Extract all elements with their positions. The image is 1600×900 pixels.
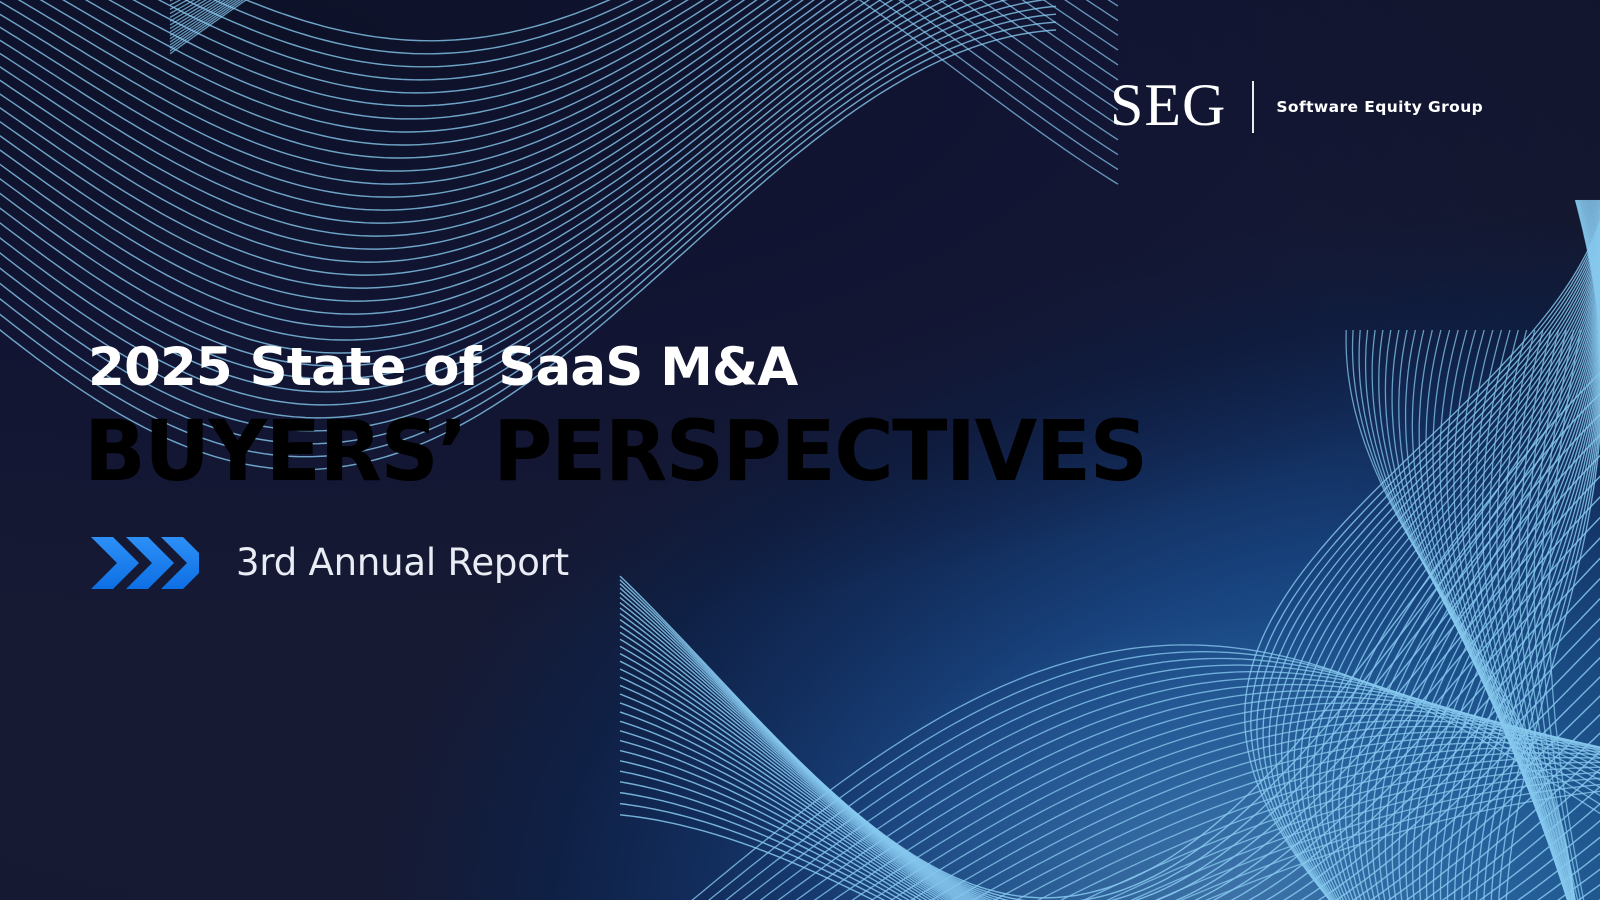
seg-logo-mark: SEG	[1110, 75, 1226, 135]
title-block: 2025 State of SaaS M&A BUYERS’ PERSPECTI…	[88, 340, 1185, 589]
seg-logo: SEG Software Equity Group	[1110, 76, 1483, 138]
seg-wordmark: Software Equity Group	[1276, 98, 1483, 116]
title-slide: SEG Software Equity Group 2025 State of …	[0, 0, 1600, 900]
page-subtitle: BUYERS’ PERSPECTIVES	[84, 409, 1146, 495]
report-badge: 3rd Annual Report	[91, 537, 1185, 589]
page-title: 2025 State of SaaS M&A	[88, 340, 1185, 395]
logo-divider	[1252, 81, 1254, 133]
report-label: 3rd Annual Report	[236, 541, 569, 584]
chevron-right-icon	[91, 537, 199, 589]
